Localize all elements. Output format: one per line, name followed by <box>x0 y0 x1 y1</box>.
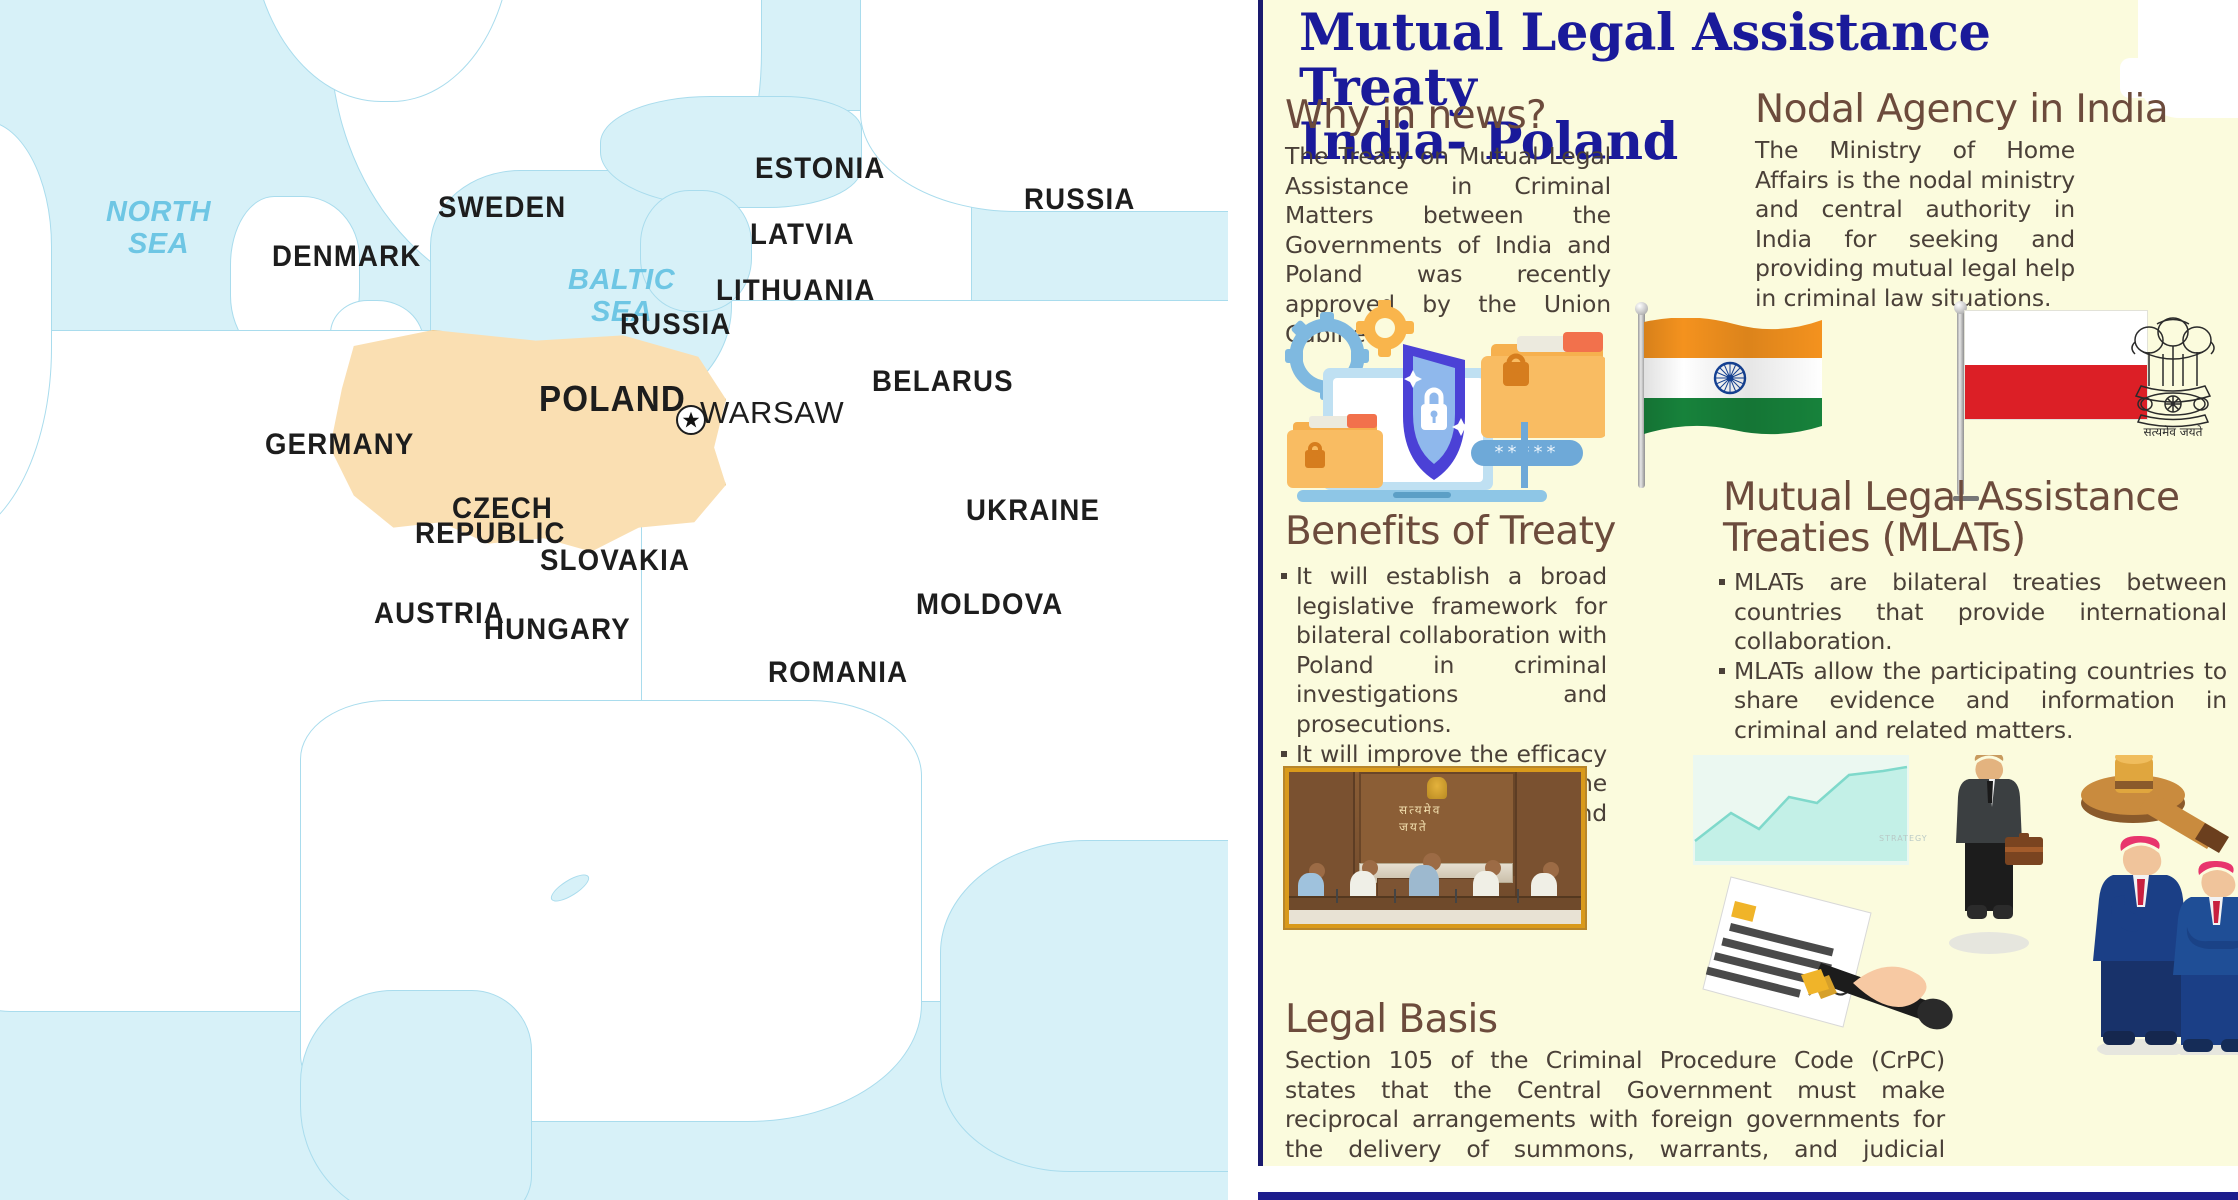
map-label-slovakia: SLOVAKIA <box>540 544 690 578</box>
capital-label-warsaw: WARSAW <box>700 395 844 431</box>
map-label-ukraine: UKRAINE <box>966 494 1100 528</box>
sea-label-text-line2: SEA <box>128 228 189 260</box>
map-label-denmark: DENMARK <box>272 240 421 274</box>
map-label-lithuania: LITHUANIA <box>716 274 875 308</box>
infographic-canvas: NORTHSEA BALTICSEA ESTONIA RUSSIA SWEDEN… <box>0 0 2238 1200</box>
europe-map: NORTHSEA BALTICSEA ESTONIA RUSSIA SWEDEN… <box>0 0 1228 1200</box>
india-flag-icon <box>1644 318 1822 436</box>
map-label-latvia: LATVIA <box>750 218 855 252</box>
svg-text:STRATEGY: STRATEGY <box>1879 834 1928 843</box>
map-label-russia-north: RUSSIA <box>1024 183 1135 217</box>
map-label-moldova: MOLDOVA <box>916 588 1063 622</box>
legal-isometric-illustration: STRATEGY <box>1693 755 2238 1055</box>
mlats-heading: Mutual Legal Assistance Treaties (MLATs) <box>1723 478 2223 560</box>
mlats-list-item: MLATs are bilateral treaties between cou… <box>1717 568 2227 657</box>
map-label-sweden: SWEDEN <box>438 191 566 225</box>
water-adriatic <box>300 990 532 1200</box>
landmass-russia-north <box>860 0 1228 212</box>
infographic-panel: Mutual Legal Assistance Treaty India- Po… <box>1258 0 2238 1166</box>
nodal-agency-heading: Nodal Agency in India <box>1755 90 2215 131</box>
legal-basis-body: Section 105 of the Criminal Procedure Co… <box>1285 1046 1945 1166</box>
svg-text:सत्यमेव जयते: सत्यमेव जयते <box>2144 425 2204 439</box>
map-label-estonia: ESTONIA <box>755 152 886 186</box>
water-black-sea <box>940 840 1228 1172</box>
sea-label-text-line1: BALTIC <box>568 264 675 296</box>
map-label-germany: GERMANY <box>265 428 414 462</box>
map-label-belarus: BELARUS <box>872 365 1014 399</box>
panel-bottom-rule <box>1258 1192 2238 1200</box>
benefits-heading: Benefits of Treaty <box>1285 512 1685 553</box>
photo-microphone <box>1394 889 1396 903</box>
photo-microphone <box>1517 889 1519 903</box>
sea-label-north-sea: NORTHSEA <box>106 196 211 261</box>
legal-basis-heading: Legal Basis <box>1285 1000 1685 1041</box>
flags-row: सत्यमेव जयते <box>1623 300 2238 495</box>
photo-microphone <box>1336 889 1338 903</box>
map-label-poland: POLAND <box>539 378 686 420</box>
india-flagpole-knob <box>1635 302 1648 315</box>
map-label-hungary: HUNGARY <box>484 613 631 647</box>
nodal-agency-body: The Ministry of Home Affairs is the noda… <box>1755 136 2075 314</box>
poland-flagpole <box>1957 306 1964 496</box>
photo-microphone <box>1455 889 1457 903</box>
cabinet-meeting-photo: सत्यमेव जयते <box>1285 768 1585 928</box>
why-in-news-heading: Why in news? <box>1285 96 1665 137</box>
map-label-russia-kaliningrad: RUSSIA <box>620 308 731 342</box>
map-label-romania: ROMANIA <box>768 656 908 690</box>
india-state-emblem-icon: सत्यमेव जयते <box>2119 312 2227 440</box>
sea-label-text-line1: NORTH <box>106 196 211 228</box>
security-illustration: ***** <box>1285 300 1605 510</box>
mlats-list-item: MLATs allow the participating countries … <box>1717 657 2227 746</box>
benefits-list-item: It will establish a broad legislative fr… <box>1279 562 1607 740</box>
photo-nameplate-row <box>1289 910 1581 924</box>
photo-motto-text: सत्यमेव जयते <box>1399 801 1475 835</box>
mlats-body: MLATs are bilateral treaties between cou… <box>1717 568 2227 746</box>
mlats-list: MLATs are bilateral treaties between cou… <box>1717 568 2227 746</box>
photo-emblem-icon <box>1427 777 1447 799</box>
